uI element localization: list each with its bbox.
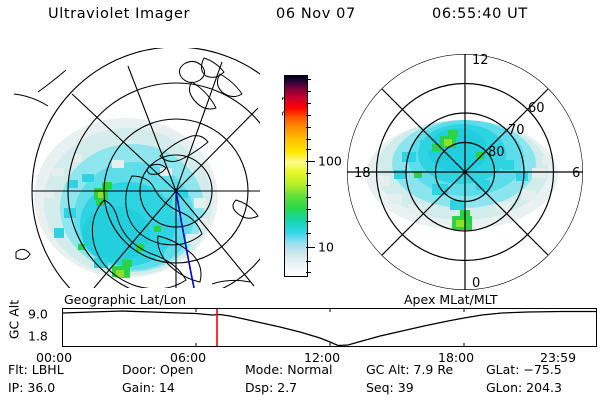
status-gc-alt: GC Alt: 7.9 Re xyxy=(366,362,453,377)
geographic-polar-panel[interactable] xyxy=(8,48,260,288)
mlt-label-0: 0 xyxy=(472,276,480,291)
mlt-label-6: 6 xyxy=(572,166,580,181)
status-filter: Flt: LBHL xyxy=(8,362,64,377)
geographic-plot-svg xyxy=(8,48,260,288)
mlt-label-18: 18 xyxy=(354,166,371,181)
uvi-display-window: Ultraviolet Imager 06 Nov 07 06:55:40 UT xyxy=(0,0,600,400)
gc-alt-axis-label: GC Alt xyxy=(7,294,22,346)
status-ip: IP: 36.0 xyxy=(8,380,55,395)
colorbar-tick-10-mark xyxy=(306,247,315,248)
orbit-altitude-chart[interactable] xyxy=(62,308,597,347)
header-bar: Ultraviolet Imager 06 Nov 07 06:55:40 UT xyxy=(0,6,600,28)
colorbar-tick-100-mark xyxy=(306,161,315,162)
orbit-altitude-strip[interactable]: GC Alt 9.0 1.8 00:00 06:00 12:00 18:00 2… xyxy=(0,306,600,356)
status-glat: GLat: −75.5 xyxy=(486,362,562,377)
status-glon: GLon: 204.3 xyxy=(486,380,562,395)
mlat-label-60: 60 xyxy=(528,101,545,116)
geographic-panel-caption: Geographic Lat/Lon xyxy=(64,292,186,307)
gc-alt-tick-low: 1.8 xyxy=(28,329,48,344)
colorbar-ticks: 100 10 xyxy=(306,75,334,275)
gc-alt-tick-high: 9.0 xyxy=(28,307,48,322)
apex-plot-svg: 12 18 6 0 60 70 80 xyxy=(336,44,594,292)
apex-polar-panel[interactable]: 12 18 6 0 60 70 80 xyxy=(336,44,594,292)
observation-date: 06 Nov 07 xyxy=(276,6,356,22)
apex-panel-caption: Apex MLat/MLT xyxy=(404,292,498,307)
observation-time: 06:55:40 UT xyxy=(432,6,528,22)
orbit-plot-frame xyxy=(63,309,597,347)
mlat-label-80: 80 xyxy=(488,145,505,160)
colorbar-tick-10: 10 xyxy=(318,240,334,255)
colorbar-group: photon cm-2s-1 100 10 xyxy=(266,62,334,290)
mlat-label-70: 70 xyxy=(508,123,525,138)
status-mode: Mode: Normal xyxy=(245,362,332,377)
aurora-emission-apex xyxy=(366,118,558,230)
status-door: Door: Open xyxy=(122,362,193,377)
colorbar-gradient[interactable] xyxy=(284,75,308,277)
status-seq: Seq: 39 xyxy=(366,380,414,395)
mlt-label-12: 12 xyxy=(472,53,489,68)
status-dsp: Dsp: 2.7 xyxy=(245,380,297,395)
mlt-spokes xyxy=(347,54,583,290)
status-block: Flt: LBHL Door: Open Mode: Normal GC Alt… xyxy=(0,362,600,400)
status-gain: Gain: 14 xyxy=(122,380,175,395)
instrument-title: Ultraviolet Imager xyxy=(48,6,190,22)
